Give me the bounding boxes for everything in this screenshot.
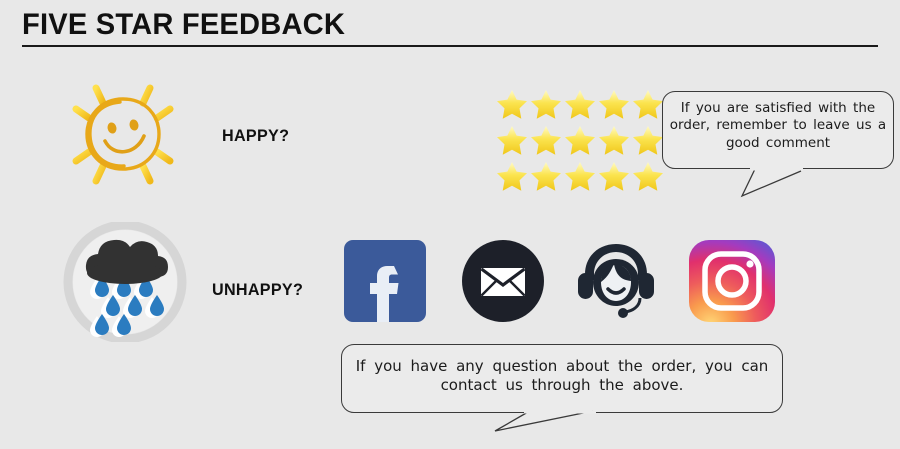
speech-bubble-satisfied-text: If you are satisfied with the order, rem… [663, 92, 893, 152]
page-title: FIVE STAR FEEDBACK [22, 8, 345, 42]
star-icon[interactable] [631, 87, 665, 120]
header-divider [22, 45, 878, 47]
star-rating-coumnication[interactable] [495, 123, 665, 156]
star-icon[interactable] [529, 159, 563, 192]
star-icon[interactable] [597, 87, 631, 120]
star-icon[interactable] [529, 87, 563, 120]
email-icon[interactable] [462, 240, 544, 327]
star-rating-item-as-described[interactable] [495, 87, 665, 120]
support-headset-icon[interactable] [574, 240, 658, 327]
star-icon[interactable] [495, 159, 529, 192]
mood-label-unhappy: UNHAPPY? [212, 280, 303, 300]
mood-label-happy: HAPPY? [222, 126, 289, 146]
speech-bubble-contact-text: If you have any question about the order… [342, 345, 782, 395]
instagram-icon[interactable] [689, 240, 775, 327]
star-icon[interactable] [597, 123, 631, 156]
star-rating-shipping-speed[interactable] [495, 159, 665, 192]
rain-cloud-icon [62, 222, 188, 342]
star-icon[interactable] [495, 123, 529, 156]
speech-bubble-contact-tail [470, 404, 630, 448]
speech-bubble-contact: If you have any question about the order… [341, 344, 783, 413]
sun-smiley-icon [58, 73, 188, 195]
star-icon[interactable] [631, 159, 665, 192]
feedback-banner: FIVE STAR FEEDBACK [0, 0, 900, 449]
star-icon[interactable] [563, 87, 597, 120]
speech-bubble-satisfied-tail [700, 160, 820, 208]
social-links [344, 240, 784, 322]
star-icon[interactable] [563, 159, 597, 192]
star-icon[interactable] [495, 87, 529, 120]
star-icon[interactable] [597, 159, 631, 192]
star-icon[interactable] [563, 123, 597, 156]
facebook-icon[interactable] [344, 240, 426, 327]
star-icon[interactable] [529, 123, 563, 156]
star-icon[interactable] [631, 123, 665, 156]
speech-bubble-satisfied: If you are satisfied with the order, rem… [662, 91, 894, 169]
